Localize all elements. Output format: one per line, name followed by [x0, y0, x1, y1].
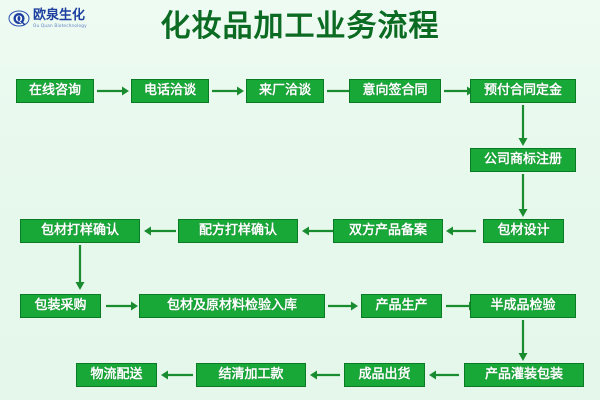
connector-arrow-down-icon — [517, 320, 529, 362]
flow-node-factory-visit[interactable]: 来厂洽谈 — [246, 79, 324, 103]
arrow-right-icon — [105, 300, 139, 312]
arrow-left-icon — [160, 369, 194, 381]
flow-node-online-consult[interactable]: 在线咨询 — [16, 79, 94, 103]
arrow-right-icon — [211, 85, 245, 97]
flow-node-phone-negotiation[interactable]: 电话洽谈 — [131, 79, 209, 103]
arrow-left-icon — [445, 225, 477, 237]
connector-arrow-down-icon — [74, 245, 86, 291]
flow-node-formula-sample-confirm[interactable]: 配方打样确认 — [178, 219, 298, 243]
arrow-left-icon — [143, 225, 177, 237]
flowchart-canvas: Q 欧泉生化 Ou Quan Biotechnology 化妆品加工业务流程 在… — [0, 0, 600, 400]
flow-node-intent-contract[interactable]: 意向签合同 — [349, 79, 441, 103]
flow-node-product-filing[interactable]: 双方产品备案 — [333, 219, 443, 243]
connector-arrow-down-icon — [517, 174, 529, 218]
flow-node-production[interactable]: 产品生产 — [361, 294, 442, 318]
flow-node-semifinished-inspection[interactable]: 半成品检验 — [470, 294, 576, 318]
flow-node-packaging-sample-confirm[interactable]: 包材打样确认 — [20, 219, 140, 243]
arrow-left-icon — [309, 369, 341, 381]
flow-node-contract-deposit[interactable]: 预付合同定金 — [470, 79, 576, 103]
arrow-right-icon — [96, 85, 130, 97]
page-title: 化妆品加工业务流程 — [0, 8, 600, 46]
flow-node-finished-goods-shipment[interactable]: 成品出货 — [344, 363, 425, 387]
flow-node-packaging-design[interactable]: 包材设计 — [483, 219, 564, 243]
flow-node-material-inspection-storage[interactable]: 包材及原材料检验入库 — [139, 294, 325, 318]
flow-node-filling-packaging[interactable]: 产品灌装包装 — [464, 363, 584, 387]
arrow-left-icon — [301, 225, 335, 237]
arrow-left-icon — [428, 369, 460, 381]
flow-node-settle-processing-fee[interactable]: 结清加工款 — [196, 363, 306, 387]
connector-arrow-down-icon — [517, 105, 529, 147]
arrow-right-icon — [327, 300, 359, 312]
flow-node-trademark-registration[interactable]: 公司商标注册 — [470, 148, 576, 172]
flow-node-packaging-purchase[interactable]: 包装采购 — [20, 294, 101, 318]
flow-node-logistics-delivery[interactable]: 物流配送 — [76, 363, 157, 387]
